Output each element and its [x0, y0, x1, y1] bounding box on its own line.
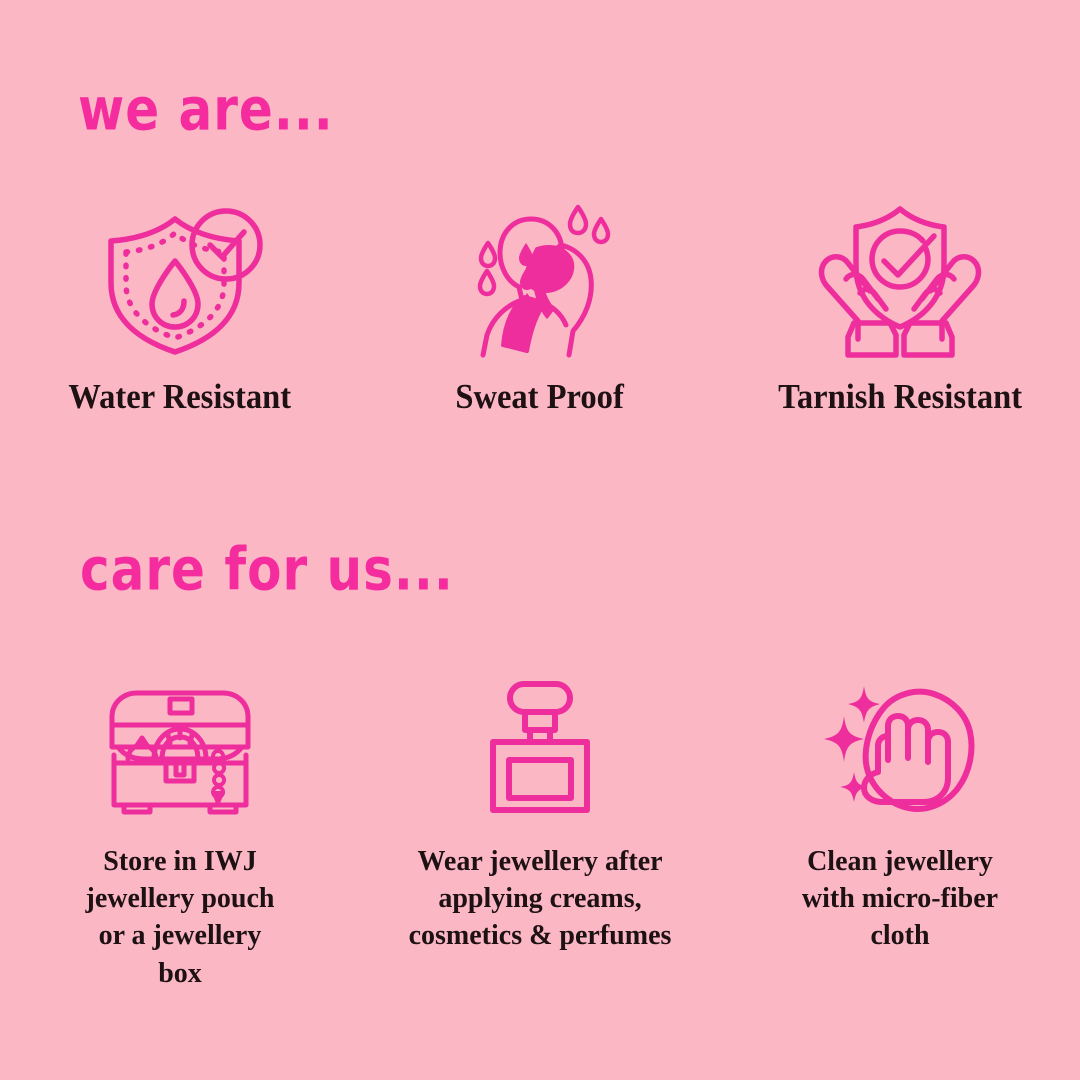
care-item-store: Store in IWJ jewellery pouch or a jewell…	[0, 675, 360, 1005]
feature-label: Water Resistant	[69, 377, 292, 417]
open-jewellery-box-icon	[100, 675, 260, 815]
care-label: Store in IWJ jewellery pouch or a jewell…	[75, 843, 285, 992]
feature-label: Sweat Proof	[456, 377, 624, 417]
care-item-clean: Clean jewellery with micro-fiber cloth	[720, 675, 1080, 1005]
care-item-wear-after-cosmetics: Wear jewellery after applying creams, co…	[360, 675, 720, 1005]
care-row: Store in IWJ jewellery pouch or a jewell…	[0, 675, 1080, 1005]
shield-water-drop-check-icon	[98, 205, 263, 355]
section-heading-we-are: we are...	[78, 80, 334, 139]
care-label: Clean jewellery with micro-fiber cloth	[800, 843, 1000, 955]
hands-holding-shield-check-icon	[818, 205, 983, 355]
features-row: Water Resistant	[0, 205, 1080, 445]
feature-item-water-resistant: Water Resistant	[0, 205, 360, 445]
person-wiping-sweat-icon	[465, 205, 615, 355]
feature-label: Tarnish Resistant	[778, 377, 1022, 417]
infographic-canvas: we are...	[0, 0, 1080, 1080]
hand-cleaning-cloth-sparkles-icon	[820, 675, 980, 815]
feature-item-sweat-proof: Sweat Proof	[360, 205, 720, 445]
feature-item-tarnish-resistant: Tarnish Resistant	[720, 205, 1080, 445]
perfume-bottle-icon	[485, 675, 595, 815]
section-heading-care-for-us: care for us...	[80, 540, 454, 599]
care-label: Wear jewellery after applying creams, co…	[390, 843, 690, 955]
